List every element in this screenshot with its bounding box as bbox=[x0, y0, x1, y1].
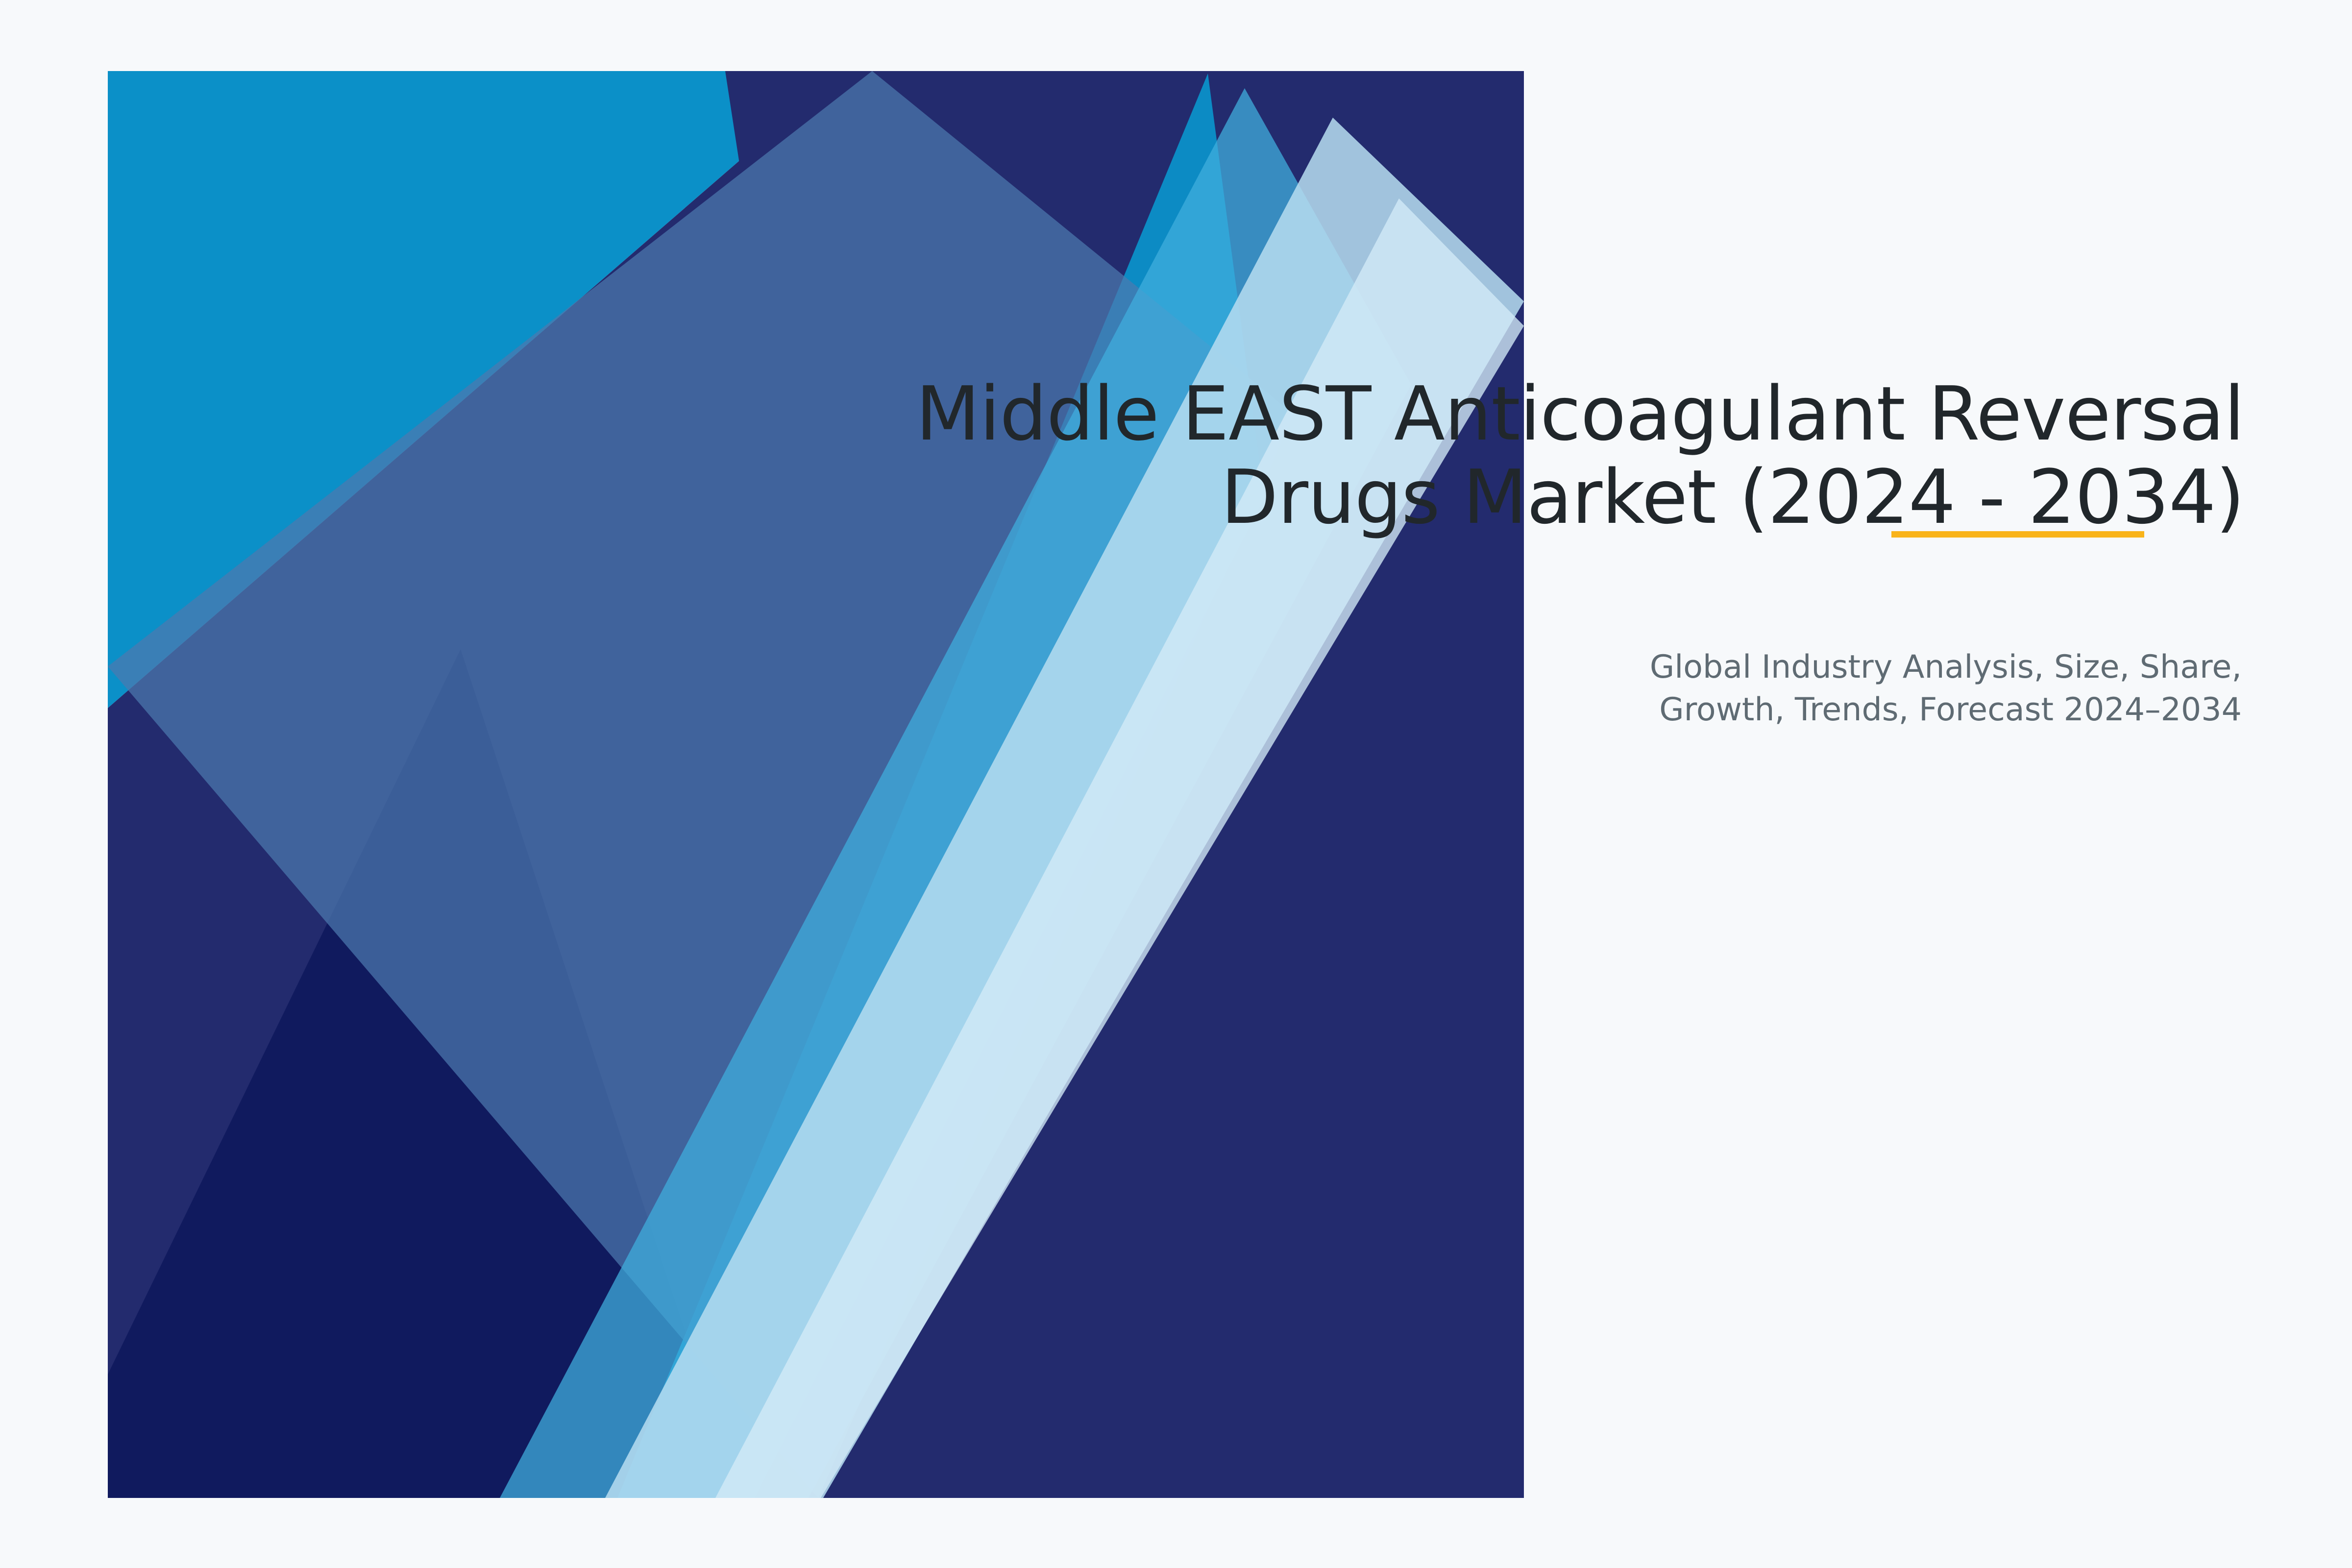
report-cover: Middle EAST Anticoagulant Reversal Drugs… bbox=[0, 0, 2352, 1568]
page-subtitle: Global Industry Analysis, Size, Share, G… bbox=[1274, 646, 2242, 731]
title-accent-underline bbox=[1891, 531, 2144, 538]
artwork-svg bbox=[108, 71, 1524, 1498]
title-block: Middle EAST Anticoagulant Reversal Drugs… bbox=[784, 372, 2244, 539]
cover-artwork bbox=[108, 71, 1524, 1498]
page-title: Middle EAST Anticoagulant Reversal Drugs… bbox=[784, 372, 2244, 539]
